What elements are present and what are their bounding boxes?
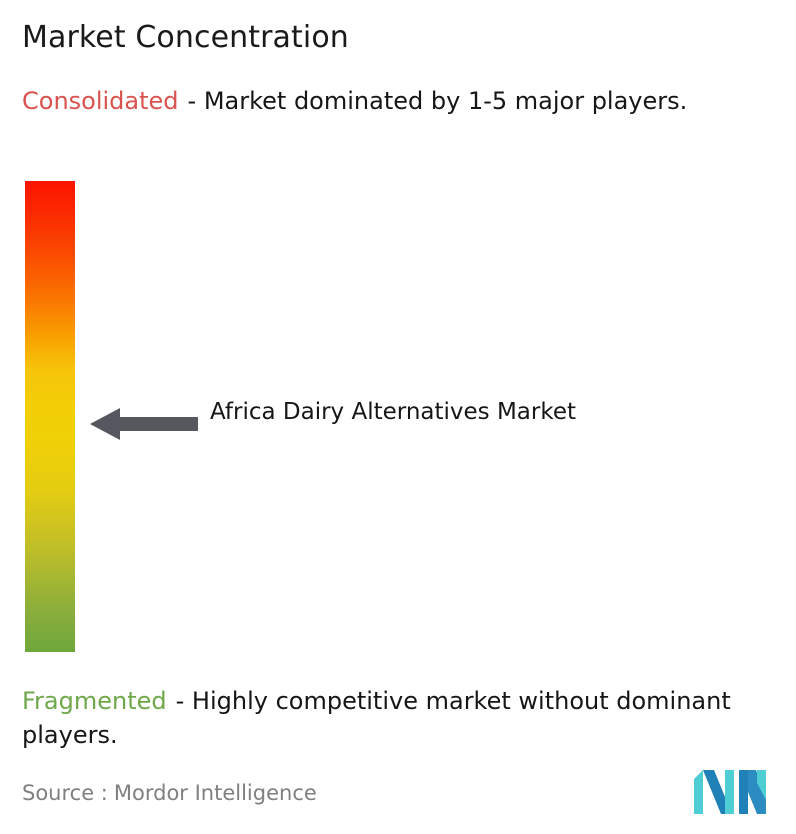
mordor-intelligence-logo-icon — [694, 770, 766, 814]
source-line: Source :Mordor Intelligence — [22, 779, 317, 807]
callout-label: Africa Dairy Alternatives Market — [210, 396, 610, 429]
source-value: Mordor Intelligence — [114, 781, 317, 805]
legend-fragmented: Fragmented- Highly competitive market wi… — [22, 684, 790, 752]
legend-consolidated: Consolidated- Market dominated by 1-5 ma… — [22, 84, 774, 118]
legend-term-consolidated: Consolidated — [22, 87, 179, 115]
market-concentration-chart: Market Concentration Consolidated- Marke… — [0, 0, 796, 834]
page-title: Market Concentration — [22, 20, 349, 56]
concentration-gradient-bar — [25, 181, 75, 652]
left-arrow-icon — [90, 404, 198, 444]
legend-term-fragmented: Fragmented — [22, 687, 167, 715]
source-label: Source : — [22, 781, 108, 805]
legend-description-consolidated: - Market dominated by 1-5 major players. — [188, 87, 688, 115]
